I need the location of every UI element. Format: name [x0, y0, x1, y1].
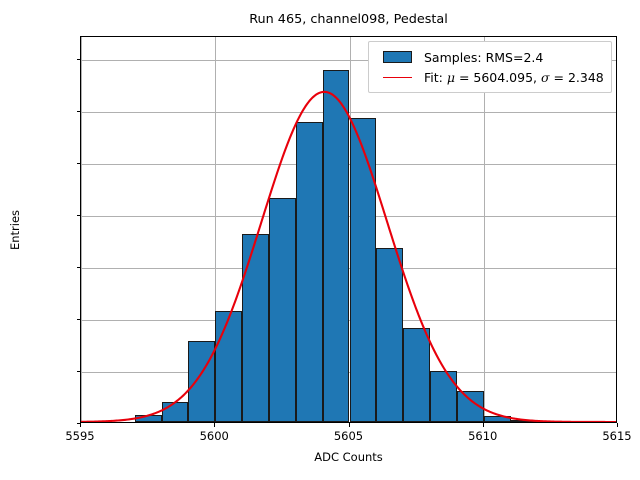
x-tick-mark — [483, 423, 484, 427]
matplotlib-figure: Run 465, channel098, Pedestal 0500100015… — [0, 0, 640, 480]
histogram-bar — [296, 122, 323, 422]
legend-swatch-wrap-samples — [375, 51, 419, 63]
legend-swatch-wrap-fit — [375, 77, 419, 78]
histogram-bar — [430, 371, 457, 422]
y-tick-mark — [77, 59, 81, 60]
histogram-bar — [376, 248, 403, 422]
plot-area — [80, 36, 617, 423]
histogram-bar — [215, 311, 242, 422]
legend-entry-samples: Samples: RMS=2.4 — [375, 47, 604, 67]
y-axis-label: Entries — [8, 209, 22, 249]
histogram-bar — [162, 402, 189, 422]
x-tick-mark — [349, 423, 350, 427]
gridline-x-5595 — [81, 37, 82, 422]
x-tick-label: 5610 — [468, 429, 497, 443]
histogram-bar — [135, 415, 162, 422]
y-tick-mark — [77, 215, 81, 216]
legend-mu-symbol: μ — [447, 70, 455, 85]
x-tick-label: 5595 — [65, 429, 94, 443]
x-axis-label: ADC Counts — [80, 450, 617, 464]
histogram-bar — [350, 118, 377, 422]
histogram-bar — [484, 416, 511, 422]
histogram-bar — [457, 391, 484, 422]
legend-label-fit: Fit: μ = 5604.095, σ = 2.348 — [419, 70, 604, 85]
legend-patch-icon — [383, 51, 412, 63]
chart-legend: Samples: RMS=2.4 Fit: μ = 5604.095, σ = … — [368, 41, 612, 93]
legend-fit-prefix: Fit: — [424, 70, 447, 85]
histogram-bar — [511, 420, 538, 422]
histogram-bar — [403, 328, 430, 422]
legend-mu-value: = 5604.095, — [455, 70, 541, 85]
legend-entry-fit: Fit: μ = 5604.095, σ = 2.348 — [375, 67, 604, 87]
y-tick-mark — [77, 319, 81, 320]
legend-sigma-value: = 2.348 — [550, 70, 604, 85]
x-tick-label: 5600 — [200, 429, 229, 443]
chart-title: Run 465, channel098, Pedestal — [80, 12, 617, 27]
legend-label-samples: Samples: RMS=2.4 — [419, 50, 543, 65]
histogram-bar — [323, 70, 350, 422]
x-tick-label: 5605 — [334, 429, 363, 443]
y-tick-mark — [77, 267, 81, 268]
gridline-x-5610 — [484, 37, 485, 422]
x-tick-label: 5615 — [602, 429, 631, 443]
x-tick-mark — [214, 423, 215, 427]
y-tick-mark — [77, 163, 81, 164]
histogram-bar — [269, 198, 296, 422]
histogram-bar — [242, 234, 269, 422]
legend-sigma-symbol: σ — [541, 70, 550, 85]
legend-line-icon — [383, 77, 412, 78]
histogram-bar — [188, 341, 215, 422]
x-tick-mark — [617, 423, 618, 427]
y-tick-mark — [77, 111, 81, 112]
x-tick-mark — [80, 423, 81, 427]
y-tick-mark — [77, 371, 81, 372]
